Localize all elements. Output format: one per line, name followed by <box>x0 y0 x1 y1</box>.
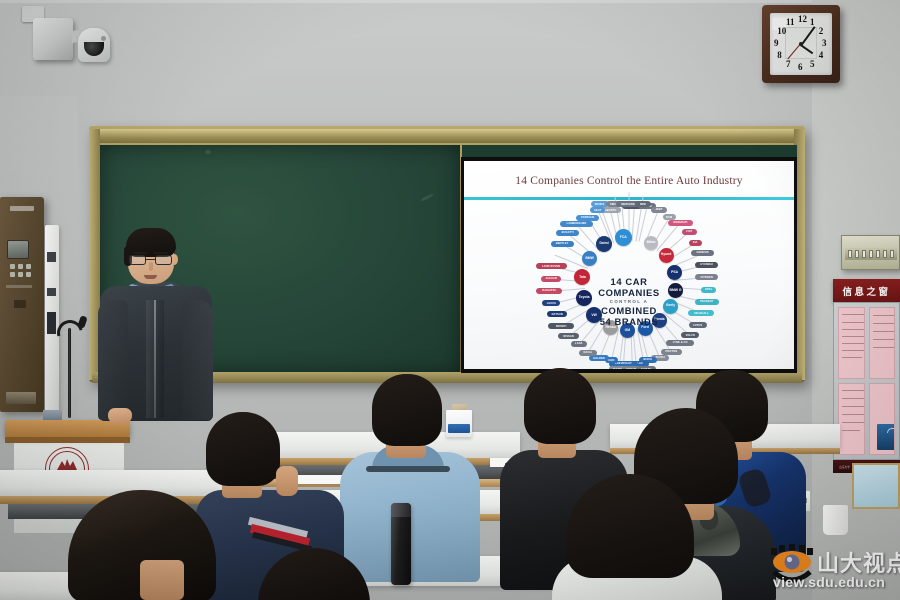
brand-pill: SEAT <box>590 207 605 213</box>
clock-numeral: 8 <box>777 51 782 60</box>
eyeglasses-icon <box>129 255 173 266</box>
company-node: PSA <box>667 265 682 280</box>
diagram-spoke <box>657 223 681 251</box>
company-node: FCA <box>615 229 632 246</box>
clock-numeral: 3 <box>822 39 827 48</box>
brand-pill: DAIHATSU <box>536 288 562 294</box>
brand-pill: DACIA <box>579 350 597 356</box>
clock-numeral: 11 <box>786 18 795 27</box>
brand-pill: VOLVO <box>681 332 699 338</box>
bulletin-board-title: 信息之窗 <box>842 284 890 298</box>
clock-numeral: 7 <box>786 60 791 69</box>
clock-numeral: 12 <box>798 15 807 24</box>
presentation-slide: 14 Companies Control the Entire Auto Ind… <box>464 161 794 369</box>
student-hand <box>276 466 298 496</box>
auto-industry-hub-diagram: 14 CAR COMPANIES CONTROL A COMBINED 54 B… <box>464 200 794 369</box>
clock-numeral: 9 <box>774 39 779 48</box>
ceiling-edge <box>0 0 900 3</box>
clock-numeral: 4 <box>819 51 824 60</box>
bulletin-board-header: 信息之窗 <box>833 279 900 302</box>
lanyard <box>366 466 450 472</box>
company-node: BMW <box>582 251 597 266</box>
brand-pill: BUGATTI <box>556 230 579 236</box>
thermos-cap <box>391 503 411 517</box>
brand-pill: HYUNDAI <box>695 262 718 268</box>
company-node: VW <box>586 307 602 323</box>
bulletin-footer-item: 山东大学 <box>839 465 849 469</box>
brand-pill: SUZUKI <box>636 366 657 369</box>
company-node: Daiml <box>596 236 612 252</box>
clock-numeral: 10 <box>777 27 786 36</box>
board-top-rail <box>92 129 802 143</box>
clock-numeral: 5 <box>810 60 815 69</box>
brand-pill: PEUGEOT <box>695 299 718 305</box>
brand-pill: JAGUAR <box>541 276 562 282</box>
clock-numeral: 6 <box>798 63 803 72</box>
brand-pill: NISSAN <box>558 333 579 339</box>
brand-pill: MINI <box>635 201 650 207</box>
brand-pill: BENTLEY <box>551 241 574 247</box>
notice-sheet <box>838 307 865 379</box>
company-node: Honda <box>652 313 667 328</box>
company-node: Toyota <box>576 290 592 306</box>
brand-pill: VAUXHALL <box>688 310 714 316</box>
company-node: Tata <box>574 269 590 285</box>
presenter-hand <box>108 408 132 423</box>
brand-pill: FIAT <box>682 229 697 235</box>
company-node: Geely <box>663 299 678 314</box>
brand-pill: LAMBORGHINI <box>560 221 594 227</box>
brand-pill: OPEL <box>701 287 716 293</box>
brand-pill: LOTUS <box>689 322 707 328</box>
brand-pill: DATSUN <box>547 311 568 317</box>
diagram-spoke <box>632 207 635 241</box>
notice-sheet <box>838 383 865 455</box>
notice-poster <box>869 383 896 455</box>
slide-title: 14 Companies Control the Entire Auto Ind… <box>464 175 794 187</box>
brand-pill: MASERATI <box>668 220 694 226</box>
clock-numeral: 2 <box>819 27 824 36</box>
brand-pill: CITROEN <box>695 274 718 280</box>
brand-pill: JEEP <box>651 207 666 213</box>
brand-pill: LEXUS <box>542 300 560 306</box>
company-node: Ford <box>638 321 653 336</box>
brand-pill: LYNK & CO <box>666 340 694 346</box>
side-whiteboard <box>852 463 900 509</box>
company-node: Mitsu <box>644 236 658 250</box>
watermark: 山大视点 view.sdu.edu.cn <box>770 543 896 595</box>
brand-pill: AUDI <box>547 251 562 257</box>
notice-sheet <box>869 307 896 379</box>
brand-pill: GENESIS <box>691 250 714 256</box>
box-label <box>448 424 470 433</box>
paper-cup <box>823 505 848 535</box>
brand-pill: INFINITI <box>548 323 574 329</box>
watermark-url: view.sdu.edu.cn <box>773 574 885 590</box>
brand-pill: PROTON <box>661 349 682 355</box>
bulletin-board <box>833 302 900 460</box>
brand-pill: HOLDEN <box>589 355 610 361</box>
company-node: BMW G <box>668 283 683 298</box>
classroom-photo: 121234567891011 14 Companies Control the… <box>0 0 900 600</box>
brand-pill: PORSCHE <box>576 215 599 221</box>
company-node: Hyund <box>659 248 674 263</box>
brand-pill: LAND ROVER <box>536 263 567 269</box>
brand-pill: LADA <box>571 341 586 347</box>
company-node: Renau <box>603 320 618 335</box>
brand-pill: KIA <box>689 240 702 246</box>
